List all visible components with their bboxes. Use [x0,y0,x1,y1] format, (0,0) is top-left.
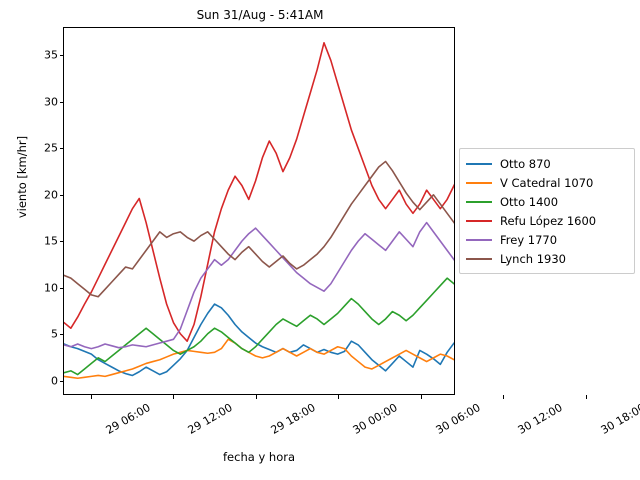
legend-color-swatch [466,220,492,222]
legend-color-swatch [466,201,492,203]
legend-item-label: Otto 870 [500,157,551,171]
legend-item[interactable]: Lynch 1930 [466,249,628,268]
x-tick-label: 29 06:00 [103,401,152,437]
series-line-frey-1770 [64,189,454,348]
legend-color-swatch [466,182,492,184]
x-tick-label: 29 12:00 [186,401,235,437]
figure-canvas: Sun 31/Aug - 5:41AM viento [km/hr] fecha… [0,0,640,480]
y-tick-label: 5 [18,328,58,341]
legend-item[interactable]: Refu López 1600 [466,211,628,230]
y-tick-label: 35 [18,48,58,61]
y-tick-label: 10 [18,281,58,294]
x-tick-label: 29 18:00 [268,401,317,437]
x-tick-label: 30 12:00 [516,401,565,437]
legend-item[interactable]: Otto 1400 [466,192,628,211]
x-tick-mark [586,395,587,399]
x-tick-label: 30 06:00 [433,401,482,437]
y-tick-label: 30 [18,95,58,108]
x-tick-mark [421,395,422,399]
x-tick-mark [256,395,257,399]
x-tick-label: 30 00:00 [351,401,400,437]
series-line-refu-l-pez-1600 [64,43,454,341]
y-tick-label: 20 [18,188,58,201]
series-lines [64,28,454,394]
x-tick-label: 30 18:00 [598,401,640,437]
x-tick-mark [338,395,339,399]
plot-area [63,27,455,395]
legend-item-label: Refu López 1600 [500,214,596,228]
chart-title: Sun 31/Aug - 5:41AM [0,8,520,22]
legend-item-label: Otto 1400 [500,195,558,209]
x-tick-mark [503,395,504,399]
series-line-lynch-1930 [64,116,454,297]
legend-item-label: V Catedral 1070 [500,176,593,190]
legend-color-swatch [466,239,492,241]
y-tick-label: 25 [18,142,58,155]
legend-item-label: Frey 1770 [500,233,557,247]
legend-color-swatch [466,163,492,165]
x-tick-mark [173,395,174,399]
y-axis-label: viento [km/hr] [15,117,29,237]
legend-color-swatch [466,258,492,260]
y-tick-label: 0 [18,375,58,388]
x-tick-mark [91,395,92,399]
y-tick-label: 15 [18,235,58,248]
legend-item[interactable]: Otto 870 [466,154,628,173]
legend: Otto 870V Catedral 1070Otto 1400Refu Lóp… [459,148,635,274]
legend-item[interactable]: Frey 1770 [466,230,628,249]
legend-item[interactable]: V Catedral 1070 [466,173,628,192]
x-axis-label: fecha y hora [63,450,455,464]
legend-item-label: Lynch 1930 [500,252,566,266]
